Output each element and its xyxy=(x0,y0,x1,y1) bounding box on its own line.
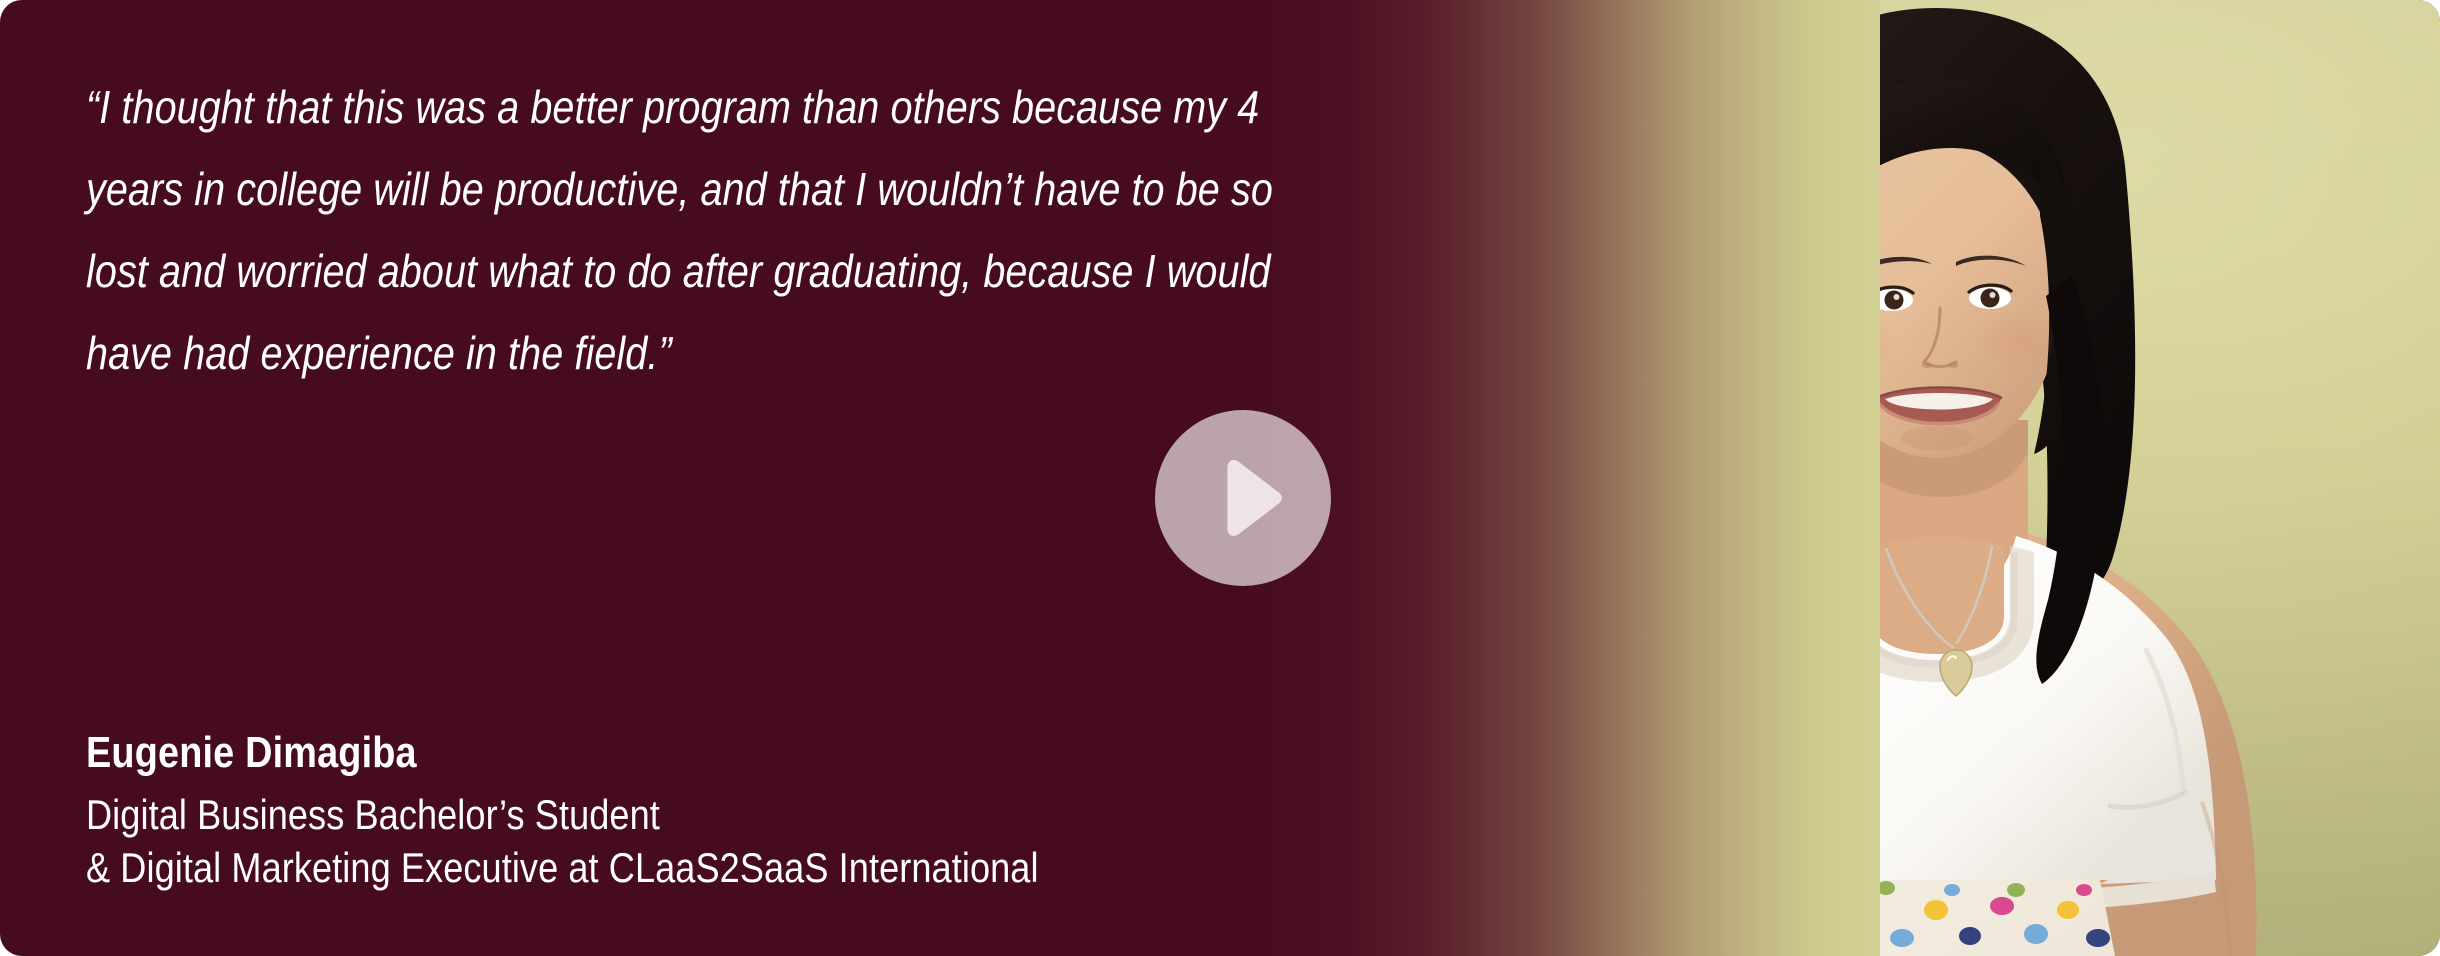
testimonial-attribution: Eugenie Dimagiba Digital Business Bachel… xyxy=(86,728,1506,894)
student-role-line-2: & Digital Marketing Executive at CLaaS2S… xyxy=(86,841,1307,894)
testimonial-card: “I thought that this was a better progra… xyxy=(0,0,2440,956)
play-icon xyxy=(1204,453,1294,543)
testimonial-quote: “I thought that this was a better progra… xyxy=(86,66,1299,394)
student-role: Digital Business Bachelor’s Student & Di… xyxy=(86,788,1307,894)
student-role-line-1: Digital Business Bachelor’s Student xyxy=(86,788,1307,841)
play-video-button[interactable] xyxy=(1155,410,1331,586)
student-name: Eugenie Dimagiba xyxy=(86,728,1307,777)
